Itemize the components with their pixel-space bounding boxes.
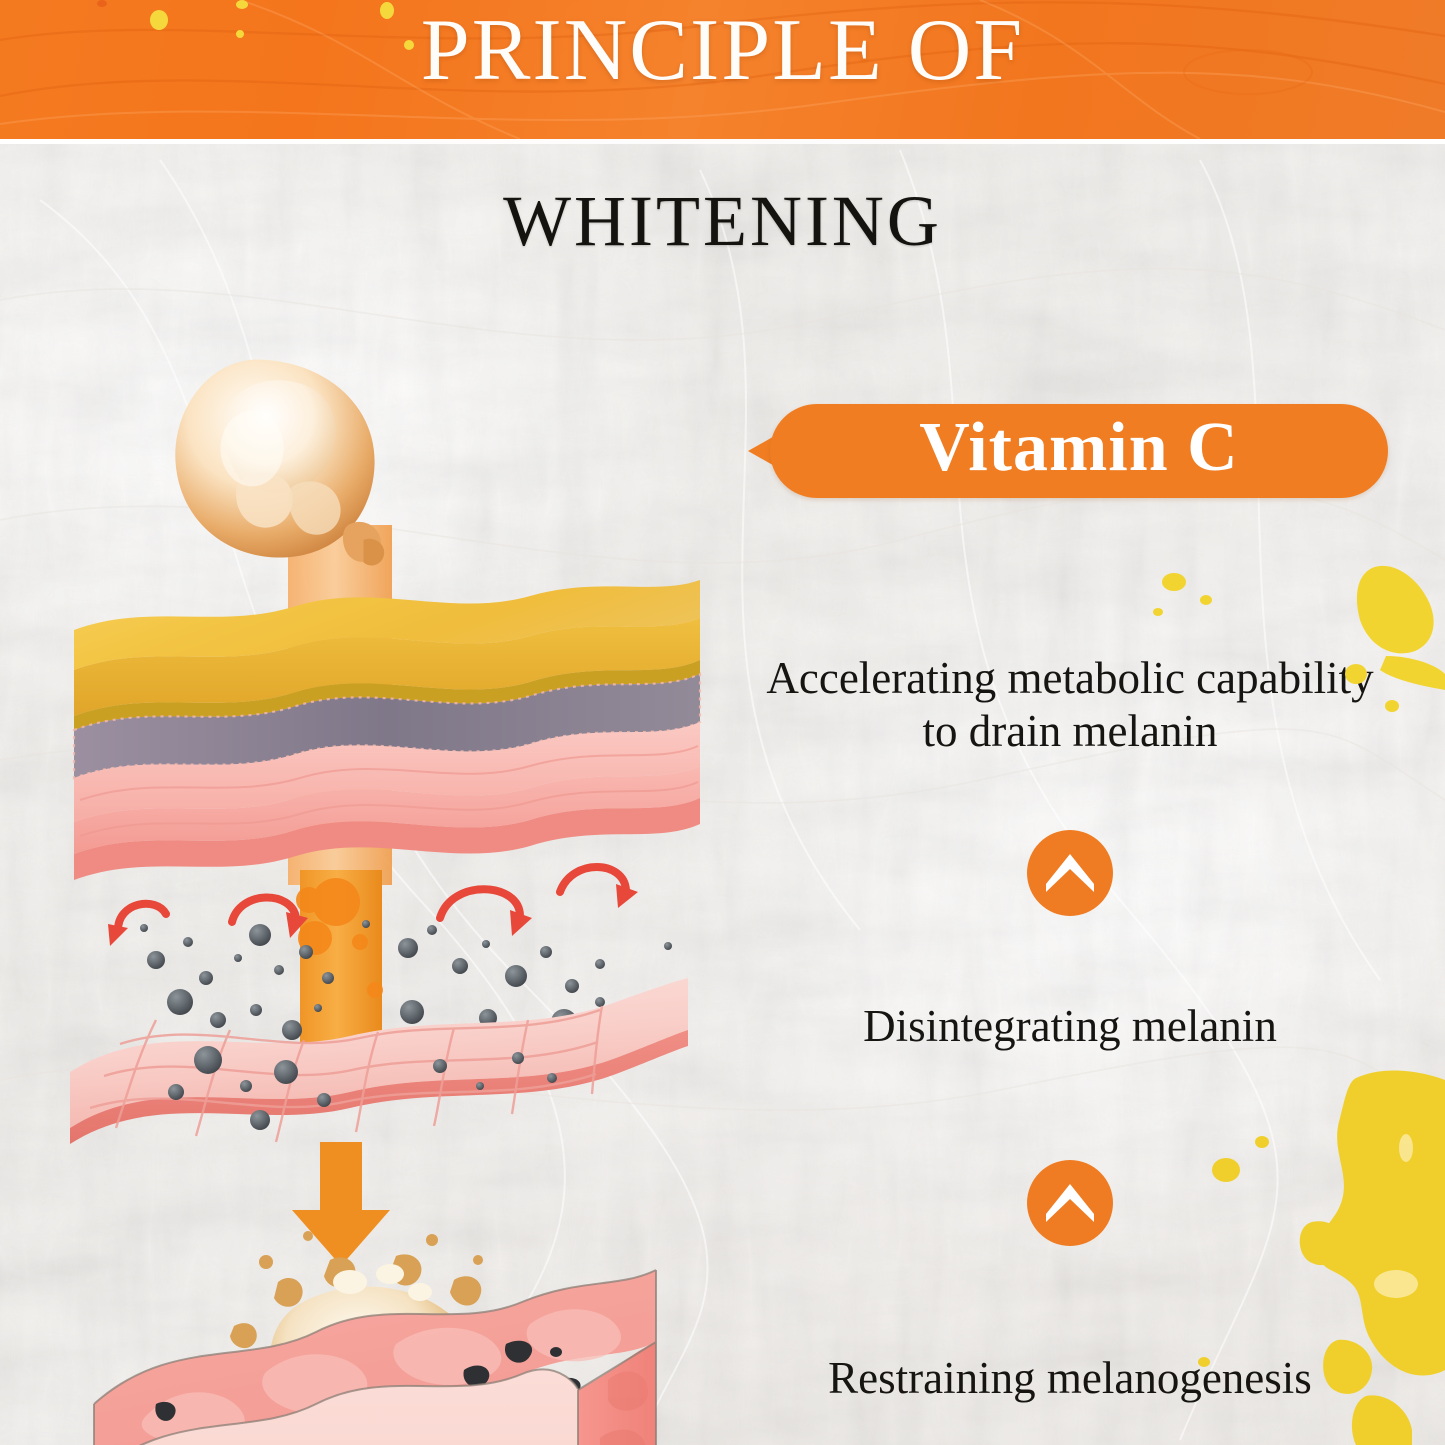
- chevron-up-icon: [1042, 850, 1098, 896]
- banner-bottom-edge: [0, 139, 1445, 144]
- chevron-up-circle-icon: [1027, 830, 1113, 916]
- header-banner: PRINCIPLE OF: [0, 0, 1445, 139]
- banner-title: PRINCIPLE OF: [0, 7, 1445, 95]
- chevron-up-circle-icon-2: [1027, 1160, 1113, 1246]
- vitamin-c-badge-label: Vitamin C: [919, 413, 1238, 483]
- page-subtitle: WHITENING: [0, 185, 1445, 257]
- epidermis-layer: [74, 580, 700, 880]
- vitamin-c-droplet: [175, 359, 384, 565]
- benefit-text-disintegrating: Disintegrating melanin: [760, 1000, 1380, 1053]
- benefit-text-restraining: Restraining melanogenesis: [750, 1352, 1390, 1405]
- skin-penetration-illustration: [60, 330, 720, 1445]
- down-arrow-icon: [292, 1142, 390, 1266]
- poster-root: PRINCIPLE OF WHITENING Vitamin C Acceler…: [0, 0, 1445, 1445]
- chevron-up-icon: [1042, 1180, 1098, 1226]
- vitamin-c-badge[interactable]: Vitamin C: [748, 404, 1388, 498]
- benefit-text-accelerating: Accelerating metabolic capability to dra…: [760, 652, 1380, 758]
- banner-droplet-6: [97, 0, 107, 7]
